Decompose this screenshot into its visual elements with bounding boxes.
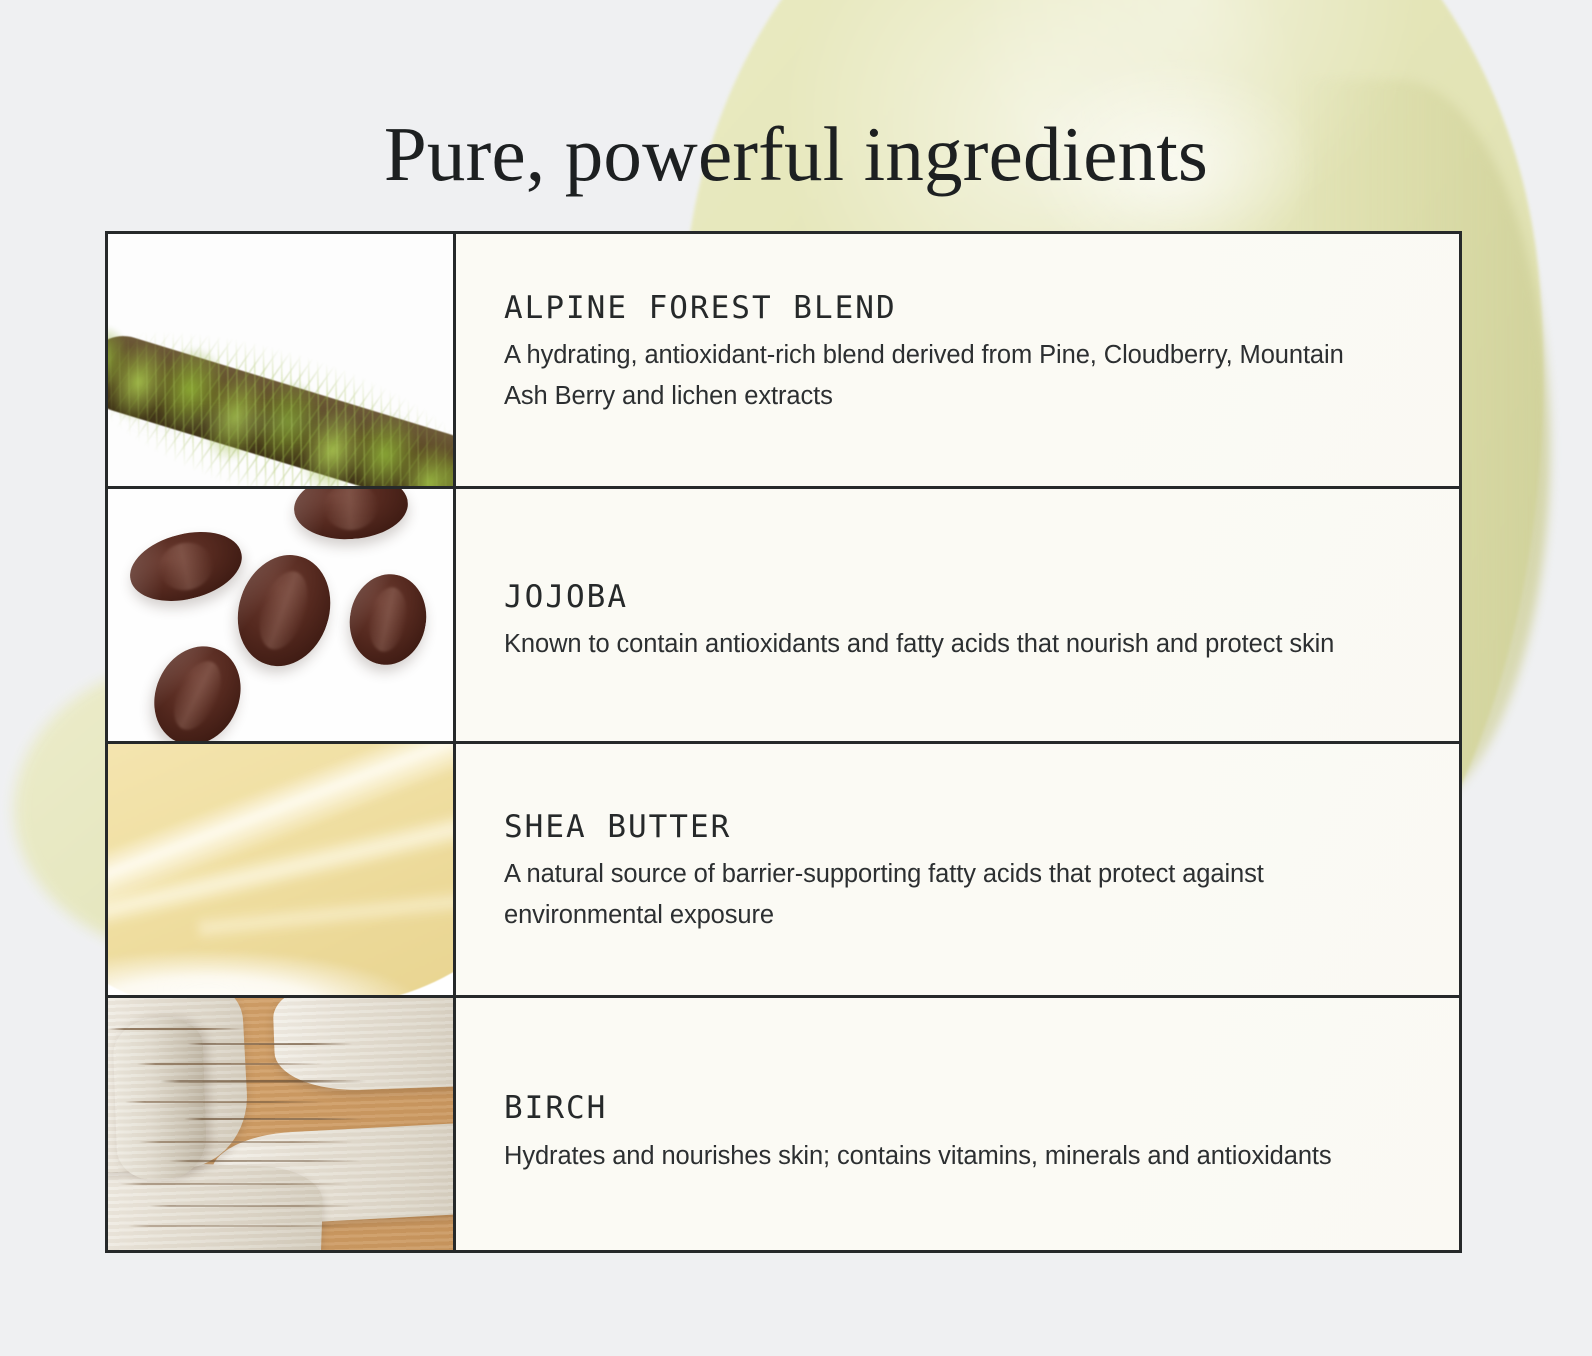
ingredients-page: Pure, powerful ingredients ALPINE FOREST… xyxy=(0,0,1592,1356)
jojoba-seeds-photo xyxy=(108,489,453,741)
ingredients-table: ALPINE FOREST BLEND A hydrating, antioxi… xyxy=(105,231,1462,1253)
jojoba-seed xyxy=(342,568,432,670)
ingredient-description: Hydrates and nourishes skin; contains vi… xyxy=(504,1136,1384,1177)
ingredient-description: A natural source of barrier-supporting f… xyxy=(504,854,1384,937)
jojoba-seed xyxy=(122,521,248,612)
table-row: JOJOBA Known to contain antioxidants and… xyxy=(108,489,1459,744)
ingredient-text-cell: SHEA BUTTER A natural source of barrier-… xyxy=(456,744,1459,996)
moss-wisps xyxy=(108,278,456,486)
ingredient-text-cell: JOJOBA Known to contain antioxidants and… xyxy=(456,489,1459,741)
ingredient-image-cell xyxy=(108,998,456,1250)
table-row: ALPINE FOREST BLEND A hydrating, antioxi… xyxy=(108,234,1459,489)
ingredient-text-cell: ALPINE FOREST BLEND A hydrating, antioxi… xyxy=(456,234,1459,486)
ingredient-name: SHEA BUTTER xyxy=(504,810,1411,844)
ingredient-text-cell: BIRCH Hydrates and nourishes skin; conta… xyxy=(456,998,1459,1250)
moss-shadow xyxy=(122,405,419,440)
shea-butter-swirl-photo xyxy=(108,744,453,996)
table-row: SHEA BUTTER A natural source of barrier-… xyxy=(108,744,1459,999)
ingredient-description: A hydrating, antioxidant-rich blend deri… xyxy=(504,335,1384,418)
birch-bark-photo xyxy=(108,998,453,1250)
jojoba-seed xyxy=(224,543,344,678)
ingredient-name: ALPINE FOREST BLEND xyxy=(504,291,1411,325)
jojoba-seed xyxy=(139,632,256,740)
shea-butter-base-highlight xyxy=(108,945,456,995)
birch-grain-texture xyxy=(108,998,453,1250)
moss-branch-photo xyxy=(108,234,453,486)
table-row: BIRCH Hydrates and nourishes skin; conta… xyxy=(108,998,1459,1250)
ingredient-image-cell xyxy=(108,489,456,741)
ingredient-description: Known to contain antioxidants and fatty … xyxy=(504,624,1384,665)
ingredient-name: BIRCH xyxy=(504,1091,1411,1125)
ingredient-name: JOJOBA xyxy=(504,580,1411,614)
jojoba-seed xyxy=(292,489,410,543)
page-title: Pure, powerful ingredients xyxy=(0,116,1592,193)
ingredient-image-cell xyxy=(108,744,456,996)
ingredient-image-cell xyxy=(108,234,456,486)
